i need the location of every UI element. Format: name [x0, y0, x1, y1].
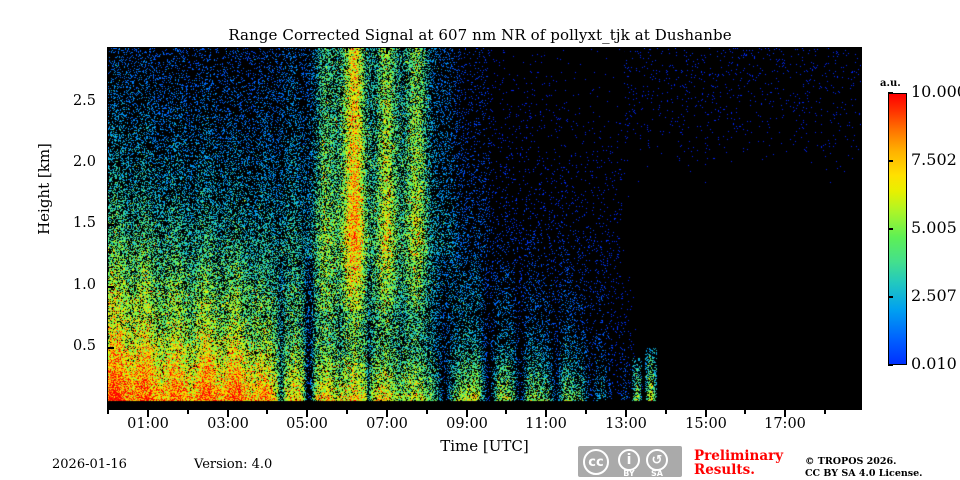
copyright-line-1: © TROPOS 2026.	[805, 456, 922, 468]
x-ticklabel: 11:00	[525, 416, 567, 432]
cc-sa-label: SA	[646, 469, 668, 478]
x-minor-tick	[824, 47, 826, 51]
preliminary-line-2: Results.	[694, 463, 804, 477]
y-tick-inner	[107, 347, 114, 349]
y-tick-right	[855, 224, 862, 226]
colorbar-ticklabel: 10.000	[911, 82, 960, 101]
x-tick-top	[147, 47, 149, 54]
page-title: Range Corrected Signal at 607 nm NR of p…	[0, 26, 960, 44]
colorbar-tick	[888, 296, 893, 298]
y-tick-inner	[107, 286, 114, 288]
x-minor-tick	[187, 410, 189, 414]
x-minor-tick	[266, 410, 268, 414]
cc-by-person-icon: i	[618, 449, 640, 471]
y-tick-inner	[107, 224, 114, 226]
y-tick-inner	[107, 102, 114, 104]
cc-sharealike-arrow-icon: ↺	[646, 449, 668, 471]
x-ticklabel: 09:00	[446, 416, 488, 432]
x-ticklabel: 03:00	[207, 416, 249, 432]
x-ticklabel: 13:00	[605, 416, 647, 432]
license-line: CC BY SA 4.0 License.	[805, 468, 922, 480]
preliminary-line-1: Preliminary	[694, 449, 804, 463]
colorbar-tick	[888, 160, 893, 162]
x-tick-top	[545, 47, 547, 54]
colorbar-ticklabel: 2.507	[911, 286, 957, 305]
x-tick-top	[306, 47, 308, 54]
creative-commons-badge[interactable]: cc i ↺ BY SA	[578, 446, 682, 477]
cc-icon: cc	[583, 449, 609, 475]
y-axis-label: Height [km]	[35, 109, 53, 269]
heatmap-canvas	[108, 48, 861, 409]
x-minor-tick	[346, 410, 348, 414]
x-minor-tick	[187, 47, 189, 51]
x-ticklabel: 05:00	[286, 416, 328, 432]
x-tick-top	[466, 47, 468, 54]
preliminary-results-note: Preliminary Results.	[694, 449, 804, 477]
y-tick-right	[855, 347, 862, 349]
x-minor-tick	[665, 410, 667, 414]
x-minor-tick	[744, 410, 746, 414]
footer-date: 2026-01-16	[52, 457, 127, 472]
x-minor-tick	[585, 47, 587, 51]
x-minor-tick	[426, 410, 428, 414]
colorbar-tick	[888, 228, 893, 230]
y-ticklabel: 2.0	[73, 154, 96, 170]
x-tick-top	[784, 47, 786, 54]
x-minor-tick	[426, 47, 428, 51]
colorbar-ticklabel: 5.005	[911, 218, 957, 237]
y-ticklabel: 1.5	[73, 215, 96, 231]
x-ticklabel: 07:00	[366, 416, 408, 432]
x-tick-top	[705, 47, 707, 54]
y-tick-right	[855, 286, 862, 288]
x-minor-tick	[824, 410, 826, 414]
x-minor-tick	[744, 47, 746, 51]
y-tick-right	[855, 163, 862, 165]
x-tick-top	[386, 47, 388, 54]
footer-version: Version: 4.0	[194, 457, 272, 472]
x-minor-tick	[346, 47, 348, 51]
colorbar-tick	[888, 364, 893, 366]
colorbar-ticklabel: 7.502	[911, 150, 957, 169]
y-tick-right	[855, 102, 862, 104]
x-minor-tick	[266, 47, 268, 51]
colorbar-ticklabel: 0.010	[911, 354, 957, 373]
copyright-block: © TROPOS 2026. CC BY SA 4.0 License.	[805, 456, 922, 480]
x-ticklabel: 17:00	[764, 416, 806, 432]
y-tick-inner	[107, 163, 114, 165]
x-tick-top	[227, 47, 229, 54]
x-minor-tick	[107, 410, 109, 414]
y-ticklabel: 2.5	[73, 93, 96, 109]
x-minor-tick	[665, 47, 667, 51]
y-ticklabel: 0.5	[73, 338, 96, 354]
y-ticklabel: 1.0	[73, 277, 96, 293]
lidar-heatmap-plot[interactable]	[107, 47, 862, 410]
x-minor-tick	[107, 47, 109, 51]
x-ticklabel: 15:00	[685, 416, 727, 432]
x-minor-tick	[585, 410, 587, 414]
x-minor-tick	[505, 410, 507, 414]
x-tick-top	[625, 47, 627, 54]
cc-by-label: BY	[618, 469, 640, 478]
x-ticklabel: 01:00	[127, 416, 169, 432]
colorbar-unit-label: a.u.	[880, 78, 901, 89]
colorbar-tick	[888, 92, 893, 94]
x-minor-tick	[505, 47, 507, 51]
